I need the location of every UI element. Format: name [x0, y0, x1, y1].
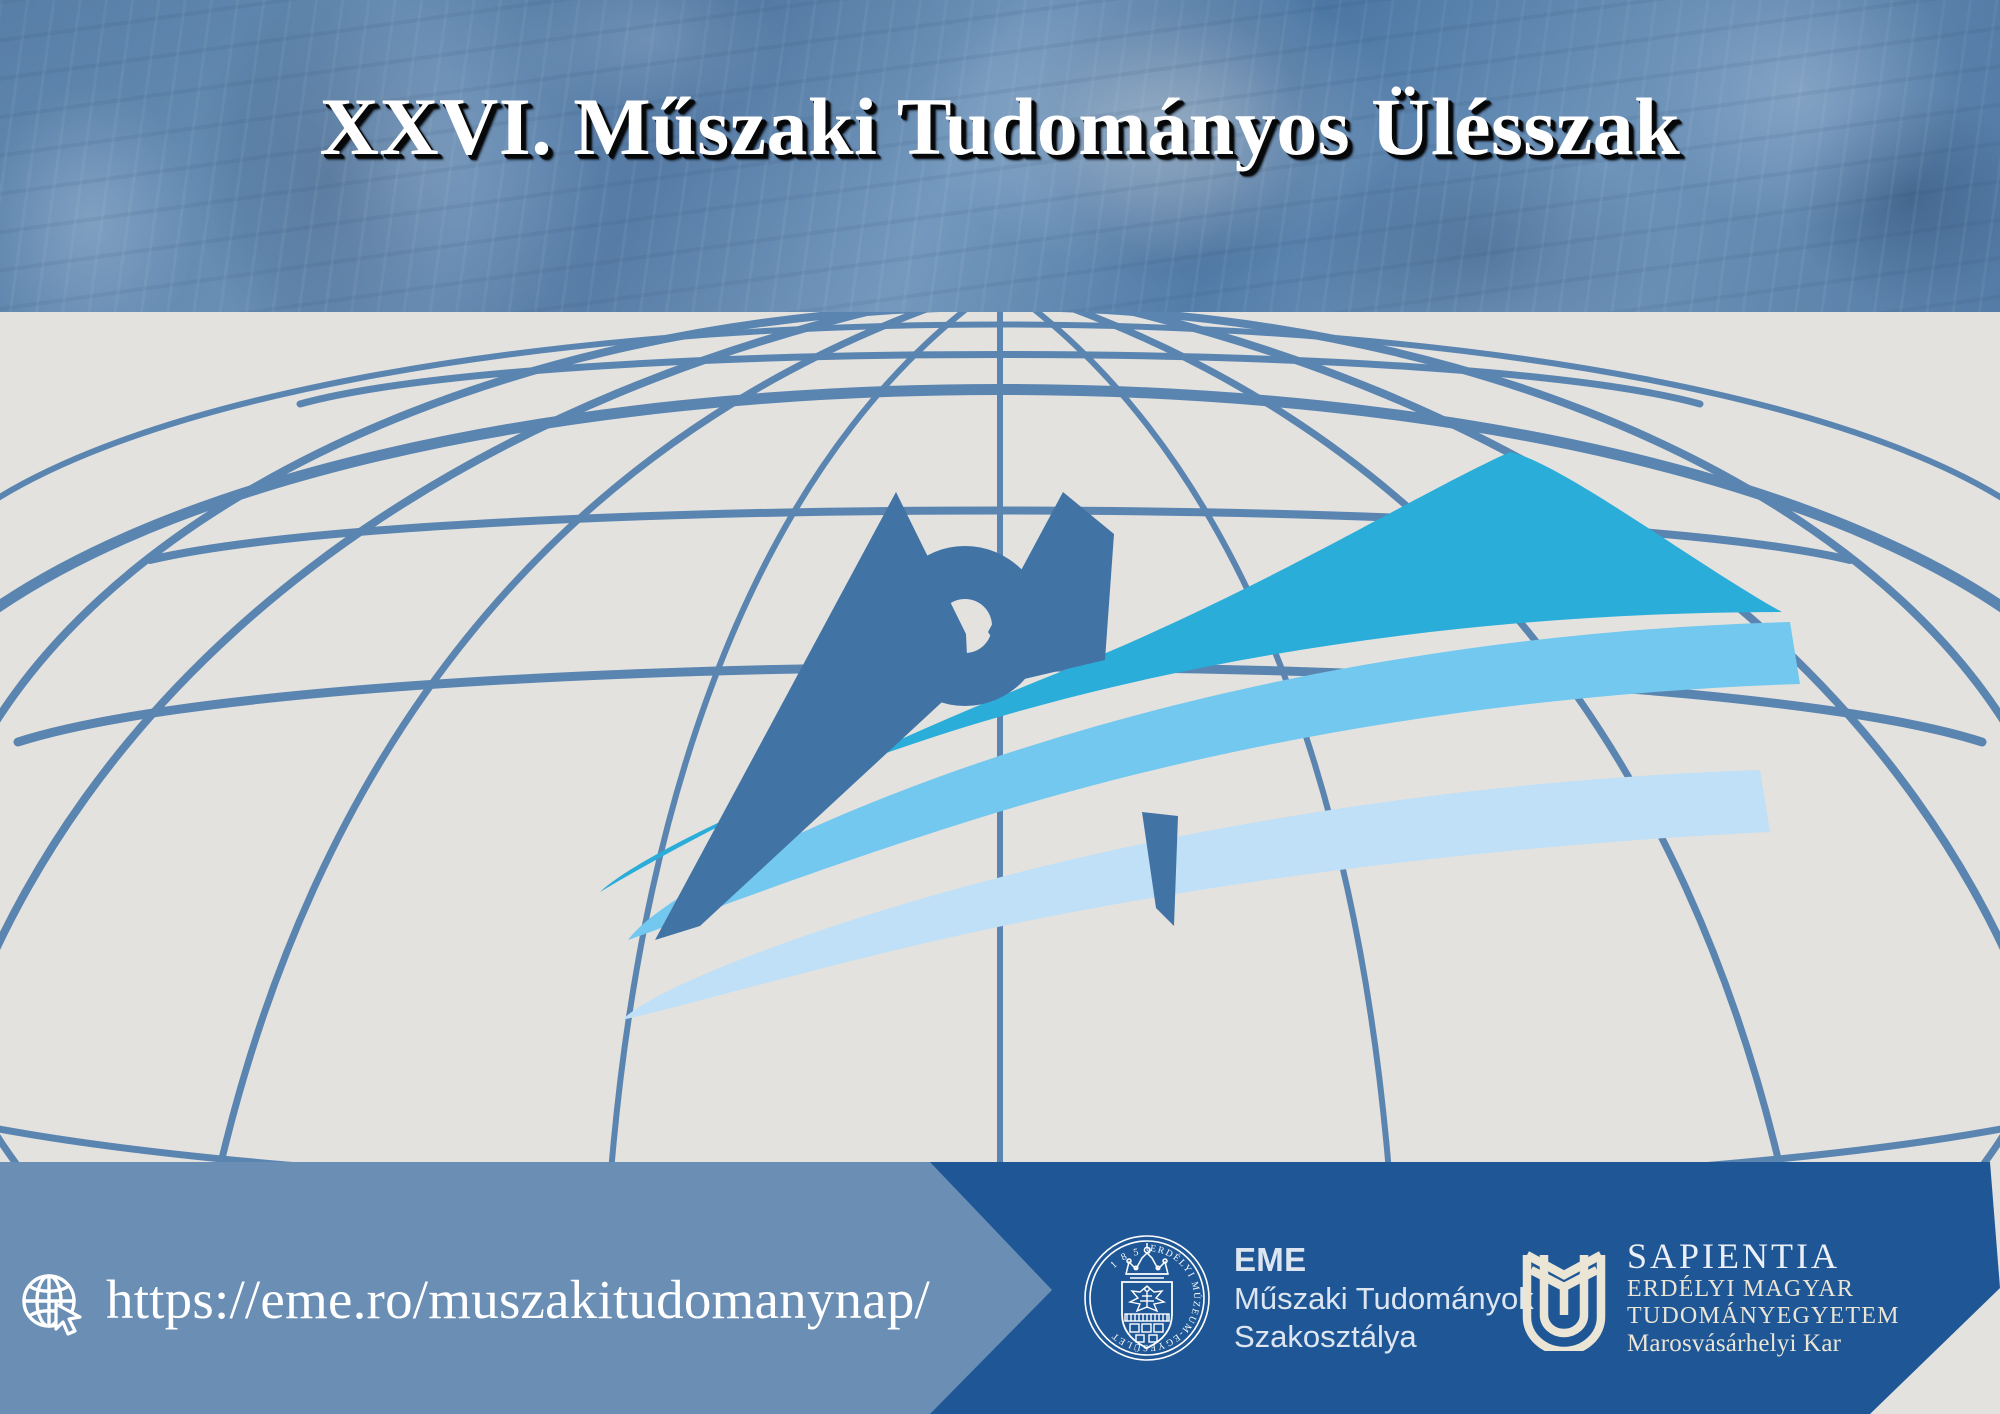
conference-logo-artwork	[0, 312, 2000, 1162]
eme-name-line: EME	[1234, 1240, 1534, 1280]
sapientia-line-2: ERDÉLYI MAGYAR	[1627, 1276, 1900, 1303]
sapientia-logo-block: SAPIENTIA ERDÉLYI MAGYAR TUDOMÁNYEGYETEM…	[1521, 1236, 1900, 1358]
main-artwork-area	[0, 312, 2000, 1162]
globe-cursor-icon	[18, 1270, 84, 1336]
sapientia-faculty: Marosvásárhelyi Kar	[1627, 1330, 1900, 1358]
page-title: XXVI. Műszaki Tudományos Ülésszak	[0, 86, 2000, 168]
website-url-text[interactable]: https://eme.ro/muszakitudomanynap/	[106, 1268, 930, 1331]
sapientia-logo-text: SAPIENTIA ERDÉLYI MAGYAR TUDOMÁNYEGYETEM…	[1627, 1236, 1900, 1358]
poster-root: XXVI. Műszaki Tudományos Ülésszak	[0, 0, 2000, 1414]
sapientia-book-mark-icon	[1521, 1243, 1607, 1351]
eme-seal-icon: ERDÉLYI MÚZEUM-EGYESÜLET 1859	[1082, 1228, 1212, 1368]
sapientia-name: SAPIENTIA	[1627, 1236, 1900, 1276]
website-url-row[interactable]: https://eme.ro/muszakitudomanynap/	[18, 1270, 930, 1336]
globe-wireframe-icon	[0, 312, 2000, 1162]
eme-logo-text: EME Műszaki Tudományok Szakosztálya	[1234, 1240, 1534, 1356]
sapientia-line-3: TUDOMÁNYEGYETEM	[1627, 1303, 1900, 1330]
ribbon-group	[573, 452, 1800, 1020]
eme-department-line-2: Szakosztálya	[1234, 1318, 1534, 1356]
eme-department-line-1: Műszaki Tudományok	[1234, 1280, 1534, 1318]
eme-logo-block: ERDÉLYI MÚZEUM-EGYESÜLET 1859	[1082, 1228, 1534, 1368]
